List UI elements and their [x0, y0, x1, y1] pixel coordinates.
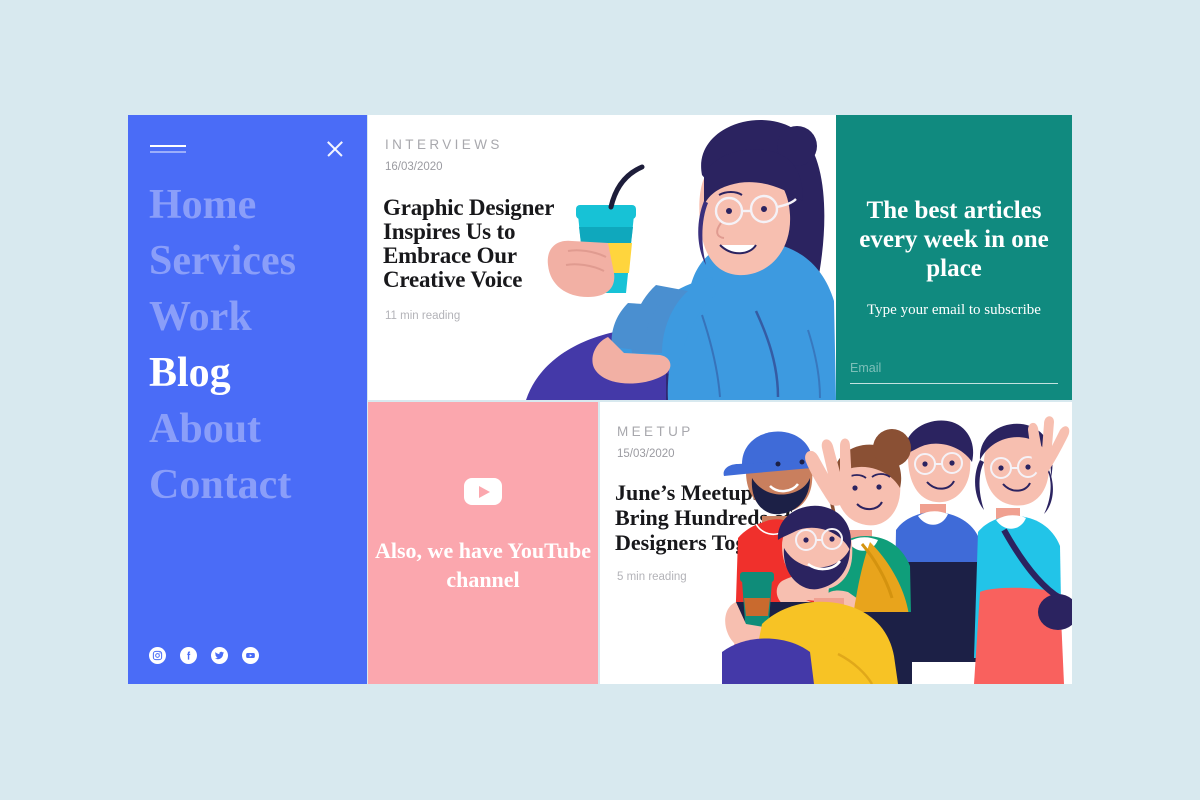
- youtube-icon[interactable]: [242, 647, 259, 664]
- email-input[interactable]: [850, 357, 1058, 384]
- group-of-people-illustration: [722, 412, 1072, 684]
- sidebar-item-contact[interactable]: Contact: [149, 457, 364, 513]
- blog-layout: Home Services Work Blog About Contact: [128, 115, 1072, 684]
- sidebar: Home Services Work Blog About Contact: [128, 115, 367, 684]
- meetup-read-time: 5 min reading: [617, 571, 687, 583]
- hamburger-bar-top: [150, 145, 186, 147]
- article-card-interviews[interactable]: INTERVIEWS 16/03/2020 Graphic Designer I…: [368, 115, 836, 400]
- sidebar-item-services[interactable]: Services: [149, 233, 364, 289]
- article-date: 16/03/2020: [385, 161, 443, 173]
- hamburger-bar-bottom: [150, 151, 186, 153]
- sidebar-item-home[interactable]: Home: [149, 177, 364, 233]
- article-card-meetup[interactable]: MEETUP 15/03/2020 June’s Meetups Bring H…: [600, 402, 1072, 684]
- sidebar-item-work[interactable]: Work: [149, 289, 364, 345]
- youtube-promo-text: Also, we have YouTube channel: [372, 536, 594, 594]
- newsletter-card: The best articles every week in one plac…: [836, 115, 1072, 400]
- sidebar-item-about[interactable]: About: [149, 401, 364, 457]
- newsletter-title: The best articles every week in one plac…: [850, 196, 1058, 283]
- sidebar-item-blog[interactable]: Blog: [149, 345, 364, 401]
- twitter-icon[interactable]: [211, 647, 228, 664]
- play-triangle-icon: [479, 486, 490, 498]
- meetup-kicker: MEETUP: [617, 424, 694, 439]
- sidebar-header: [128, 115, 367, 175]
- article-read-time: 11 min reading: [385, 310, 460, 322]
- meetup-date: 15/03/2020: [617, 448, 675, 460]
- article-kicker: INTERVIEWS: [385, 137, 503, 152]
- facebook-icon[interactable]: [180, 647, 197, 664]
- hamburger-icon[interactable]: [150, 145, 186, 157]
- social-links: [149, 647, 259, 664]
- instagram-icon[interactable]: [149, 647, 166, 664]
- newsletter-subtitle: Type your email to subscribe: [850, 302, 1058, 319]
- youtube-promo-card: Also, we have YouTube channel CHECK: [368, 402, 598, 684]
- close-icon[interactable]: [325, 139, 345, 159]
- sidebar-nav: Home Services Work Blog About Contact: [149, 177, 364, 513]
- youtube-play-icon[interactable]: [464, 478, 502, 505]
- woman-holding-coffee-illustration: [516, 115, 836, 400]
